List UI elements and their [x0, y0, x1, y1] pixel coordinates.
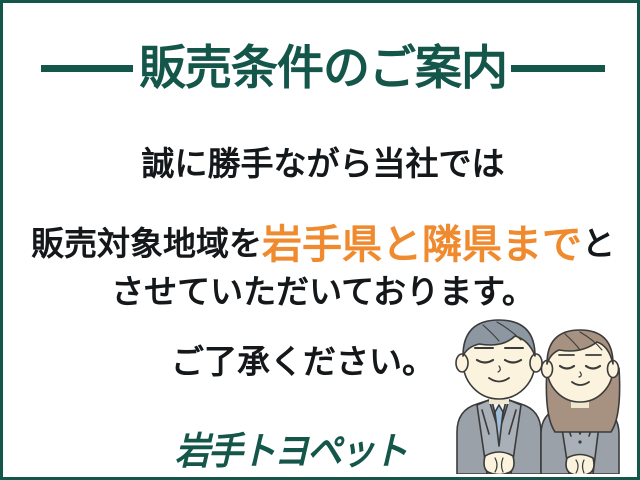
company-logo: 岩手トヨペット: [175, 421, 406, 476]
sales-area-highlight: 岩手県と隣県まで: [262, 222, 582, 268]
body-line-2-prefix: 販売対象地域を: [31, 224, 262, 263]
body-line-2: 販売対象地域を岩手県と隣県までと: [3, 225, 640, 265]
body-line-3: させていただいております。: [3, 275, 640, 308]
body-line-2-suffix: と: [582, 224, 615, 263]
title-rule-left-icon: [41, 65, 133, 72]
title-rule-right-icon: [511, 65, 605, 72]
male-staff-figure: [456, 320, 542, 474]
body-line-1: 誠に勝手ながら当社では: [3, 147, 640, 180]
page-title: 販売条件のご案内: [3, 39, 640, 97]
two-bowing-staff-illustration: [437, 306, 633, 474]
notice-card: 販売条件のご案内 誠に勝手ながら当社では 販売対象地域を岩手県と隣県までと させ…: [0, 0, 640, 480]
page-title-text: 販売条件のご案内: [139, 45, 507, 92]
female-staff-figure: [541, 330, 620, 474]
